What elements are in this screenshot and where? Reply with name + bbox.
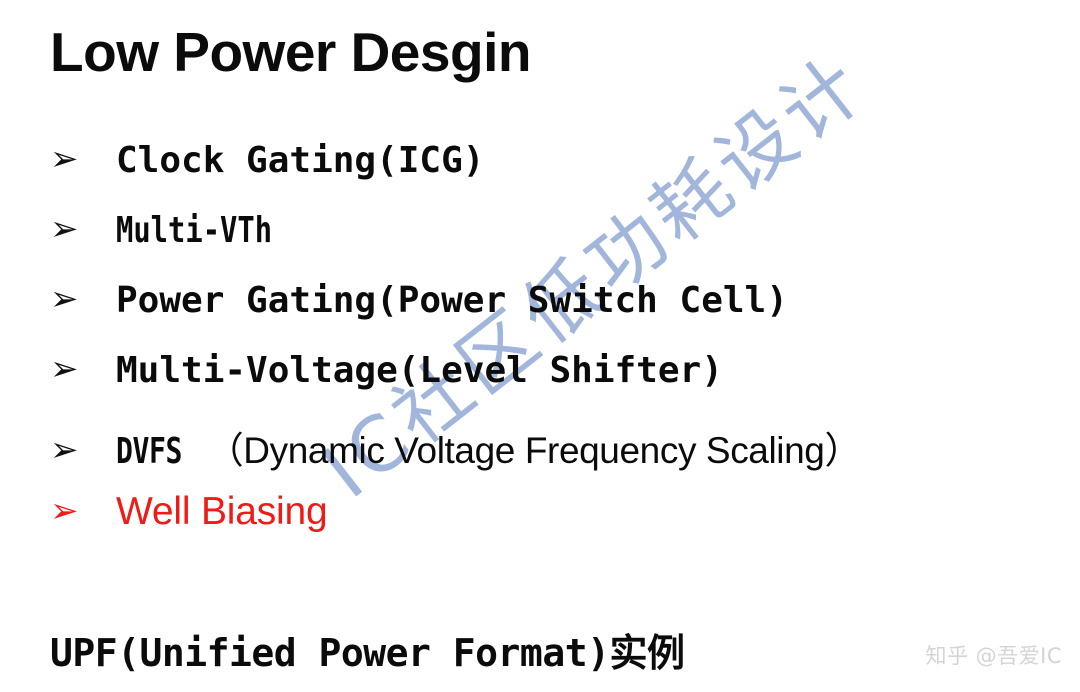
footer-heading: UPF(Unified Power Format)实例 (50, 622, 684, 677)
list-item-label: DVFS （Dynamic Voltage Frequency Scaling） (116, 420, 861, 474)
dvfs-expansion: （Dynamic Voltage Frequency Scaling） (207, 420, 861, 474)
list-item: ➢ Multi-Voltage(Level Shifter) (50, 350, 1070, 420)
dvfs-acronym: DVFS (116, 431, 182, 472)
list-item: ➢ Clock Gating(ICG) (50, 140, 1070, 210)
footer-cjk-text: 实例 (609, 631, 684, 675)
list-item-label: Multi-VTh (116, 210, 272, 251)
list-item: ➢ Well Biasing (50, 490, 1070, 560)
arrow-bullet-icon: ➢ (50, 212, 116, 246)
list-item: ➢ Power Gating(Power Switch Cell) (50, 280, 1070, 350)
arrow-bullet-icon: ➢ (50, 142, 116, 176)
slide-canvas: IC社区低功耗设计 Low Power Desgin ➢ Clock Gatin… (0, 0, 1080, 692)
footer-latin-text: UPF(Unified Power Format) (50, 631, 609, 675)
arrow-bullet-icon: ➢ (50, 282, 116, 316)
list-item-label: Well Biasing (116, 490, 327, 534)
arrow-bullet-icon: ➢ (50, 494, 116, 528)
list-item: ➢ DVFS （Dynamic Voltage Frequency Scalin… (50, 420, 1070, 490)
list-item: ➢ Multi-VTh (50, 210, 1070, 280)
arrow-bullet-icon: ➢ (50, 352, 116, 386)
list-item-label: Multi-Voltage(Level Shifter) (116, 350, 723, 391)
bullet-list: ➢ Clock Gating(ICG) ➢ Multi-VTh ➢ Power … (50, 140, 1070, 560)
page-title: Low Power Desgin (50, 20, 531, 84)
arrow-bullet-icon: ➢ (50, 433, 116, 467)
list-item-label: Clock Gating(ICG) (116, 140, 484, 181)
corner-watermark: 知乎 @吾爱IC (925, 640, 1062, 670)
list-item-label: Power Gating(Power Switch Cell) (116, 280, 788, 321)
